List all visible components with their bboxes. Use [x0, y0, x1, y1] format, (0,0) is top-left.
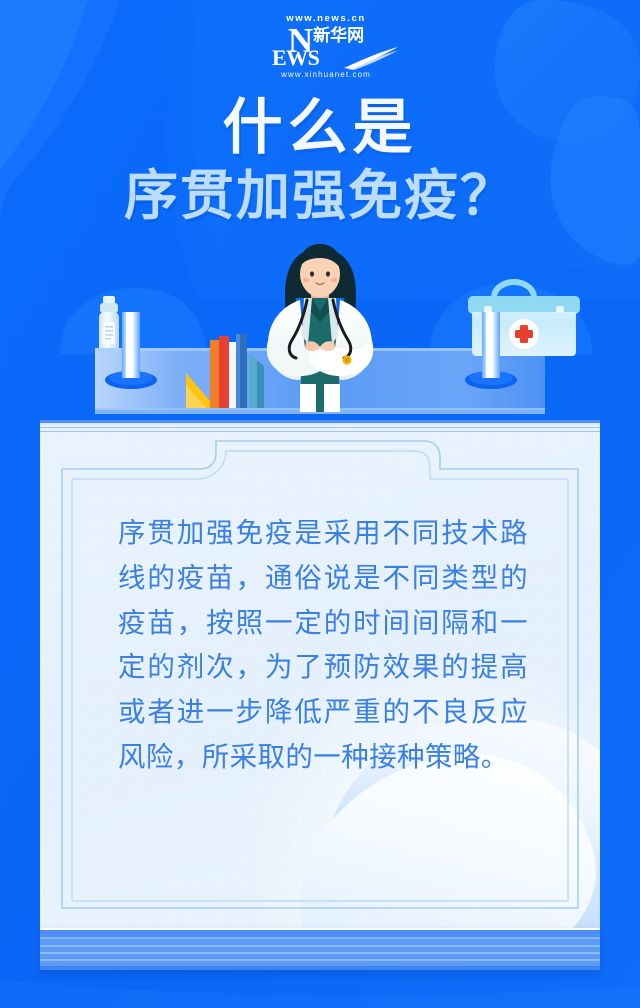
logo-chinese-name: 新华网 — [313, 27, 364, 45]
logo-swoosh-icon — [342, 46, 400, 70]
title-line-1: 什么是 — [0, 96, 640, 161]
xinhua-news-logo: www.news.cn N 新华网 EWS www.xinhuanet.com — [246, 14, 406, 82]
content-card: 序贯加强免疫是采用不同技术路线的疫苗，通俗说是不同类型的疫苗，按照一定的时间间隔… — [40, 420, 600, 972]
logo-word-ews: EWS — [272, 47, 319, 69]
card-top-page-edge — [40, 420, 600, 434]
poster-title: 什么是 序贯加强免疫？ — [0, 96, 640, 229]
logo-mark: N 新华网 EWS — [246, 26, 406, 68]
poster-root: www.news.cn N 新华网 EWS www.xinhuanet.com … — [0, 0, 640, 1008]
logo-top-url: www.news.cn — [246, 14, 406, 24]
card-paper-surface: 序贯加强免疫是采用不同技术路线的疫苗，通俗说是不同类型的疫苗，按照一定的时间间隔… — [40, 433, 600, 930]
title-line-2: 序贯加强免疫？ — [0, 165, 640, 229]
sanitizer-spray-bottle — [99, 296, 119, 354]
card-body-text: 序贯加强免疫是采用不同技术路线的疫苗，通俗说是不同类型的疫苗，按照一定的时间间隔… — [118, 511, 528, 780]
illustration-scene — [0, 236, 640, 426]
card-bottom-page-stack — [40, 928, 600, 972]
logo-bottom-url: www.xinhuanet.com — [246, 71, 406, 79]
